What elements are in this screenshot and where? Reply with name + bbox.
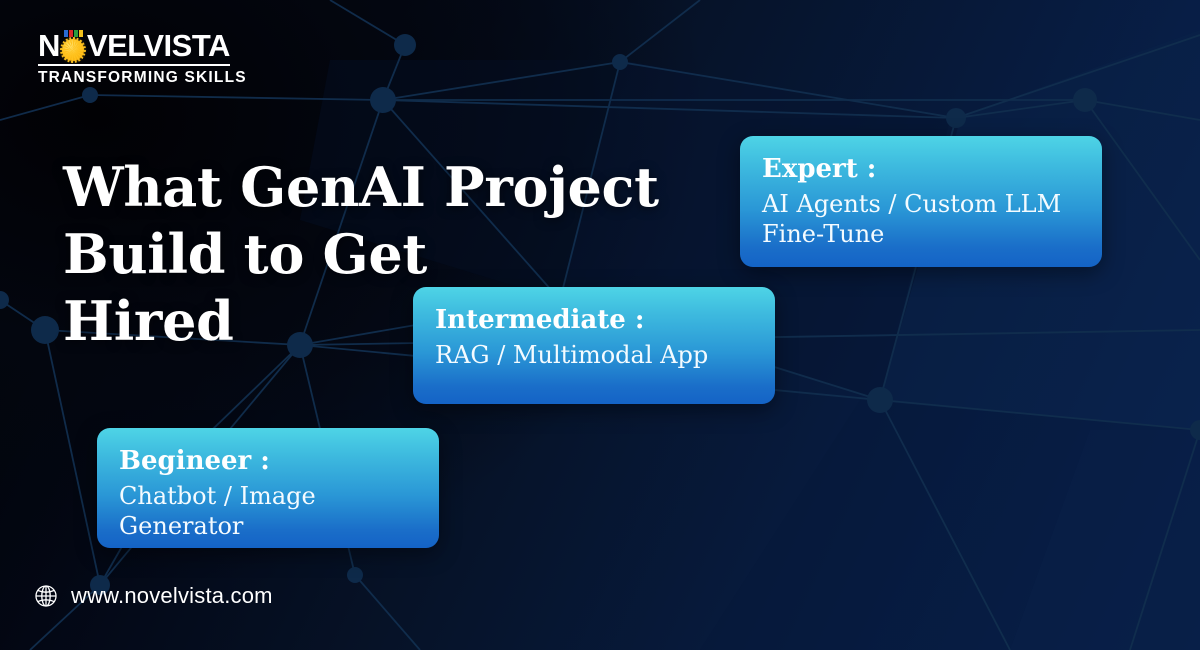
footer: www.novelvista.com bbox=[33, 583, 273, 609]
card-body: Chatbot / Image Generator bbox=[119, 481, 417, 542]
website-url[interactable]: www.novelvista.com bbox=[71, 583, 273, 609]
logo-sun-icon bbox=[60, 30, 87, 61]
logo-wordmark: N VELVISTA bbox=[38, 28, 234, 62]
card-title: Intermediate : bbox=[435, 305, 753, 336]
brand-logo: N VELVISTA TRANSFORMING SKILLS bbox=[38, 28, 234, 87]
logo-text-after: VELVISTA bbox=[87, 30, 230, 61]
logo-color-chips bbox=[64, 30, 83, 37]
level-card-beginner[interactable]: Begineer : Chatbot / Image Generator bbox=[97, 428, 439, 548]
card-body: AI Agents / Custom LLM Fine-Tune bbox=[762, 189, 1080, 250]
logo-text-before: N bbox=[38, 30, 60, 61]
card-title: Expert : bbox=[762, 154, 1080, 185]
logo-divider bbox=[38, 64, 230, 66]
level-card-expert[interactable]: Expert : AI Agents / Custom LLM Fine-Tun… bbox=[740, 136, 1102, 267]
logo-tagline: TRANSFORMING SKILLS bbox=[38, 69, 234, 87]
card-title: Begineer : bbox=[119, 446, 417, 477]
globe-icon bbox=[33, 583, 59, 609]
card-body: RAG / Multimodal App bbox=[435, 340, 753, 371]
poster-canvas: N VELVISTA TRANSFORMING SKILLS What GenA… bbox=[0, 0, 1200, 650]
level-card-intermediate[interactable]: Intermediate : RAG / Multimodal App bbox=[413, 287, 775, 404]
